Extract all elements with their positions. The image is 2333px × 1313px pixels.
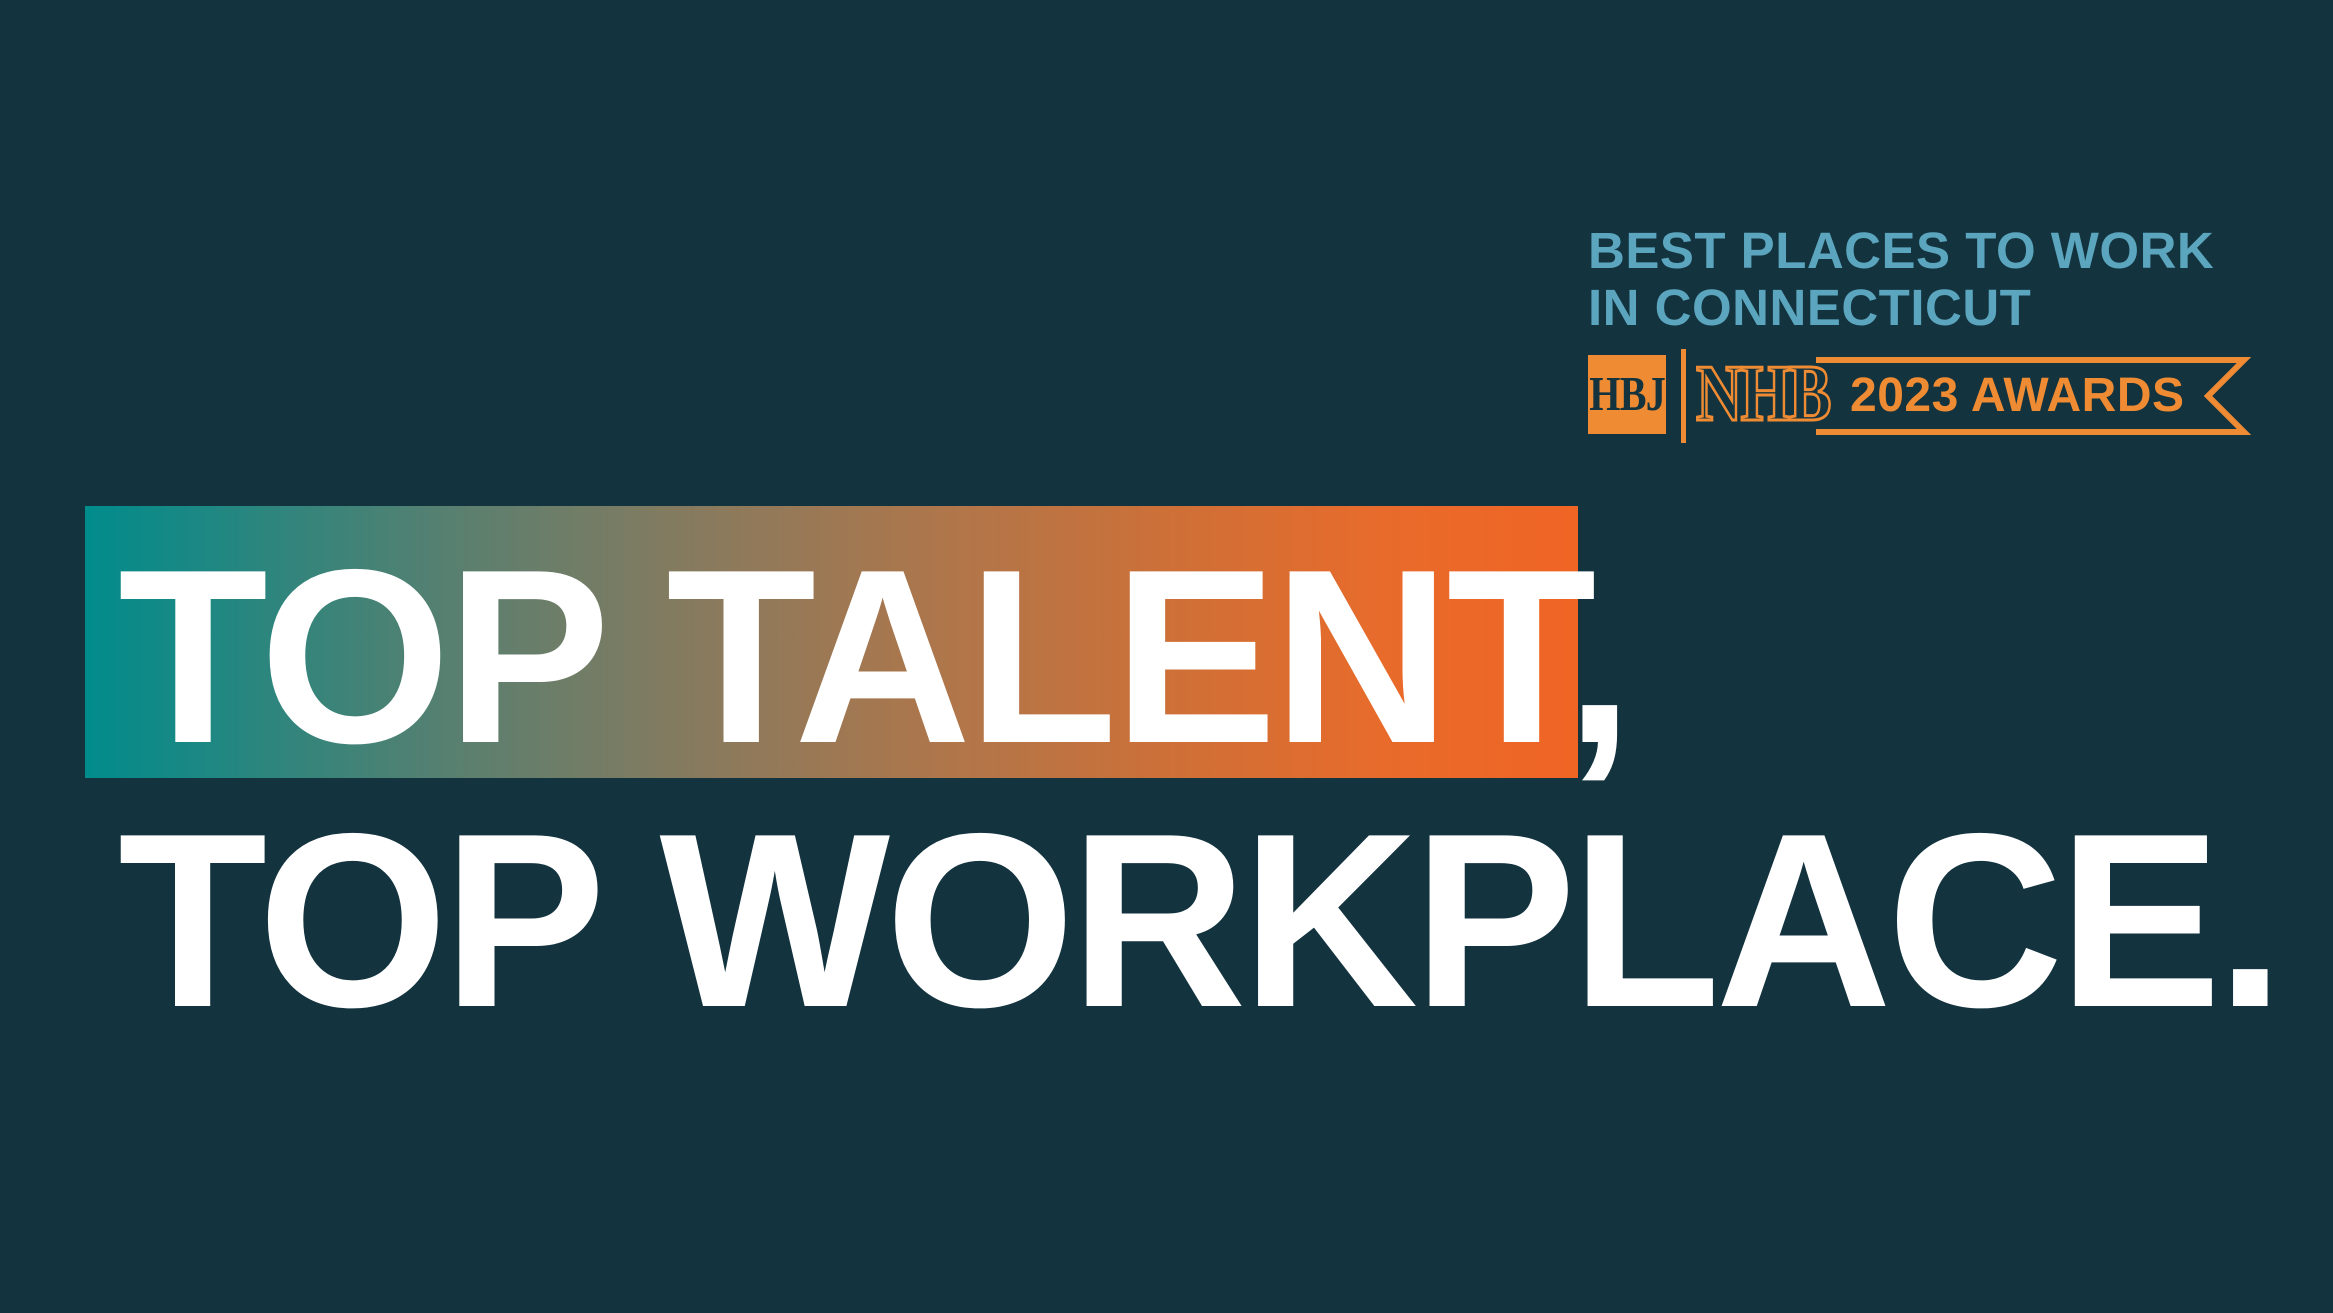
badge-ribbon-row: HBJ NHB 2023 AWARDS: [1588, 355, 2248, 437]
hbj-logo-mark: HBJ: [1588, 355, 1666, 434]
badge-divider: [1681, 349, 1686, 443]
ribbon-award-label: 2023 AWARDS: [1850, 372, 2185, 420]
badge-title-line-1: BEST PLACES TO WORK: [1588, 222, 2248, 279]
badge-title-line-2: IN CONNECTICUT: [1588, 279, 2248, 336]
award-badge: BEST PLACES TO WORK IN CONNECTICUT HBJ N…: [1588, 222, 2248, 447]
headline-line-2: TOP WORKPLACE.: [118, 796, 2279, 1044]
headline-line-1: TOP TALENT,: [118, 532, 1630, 780]
hbj-logo-label: HBJ: [1589, 369, 1665, 418]
promo-banner: BEST PLACES TO WORK IN CONNECTICUT HBJ N…: [0, 0, 2333, 1313]
nhb-logo-mark: NHB: [1696, 353, 1830, 435]
